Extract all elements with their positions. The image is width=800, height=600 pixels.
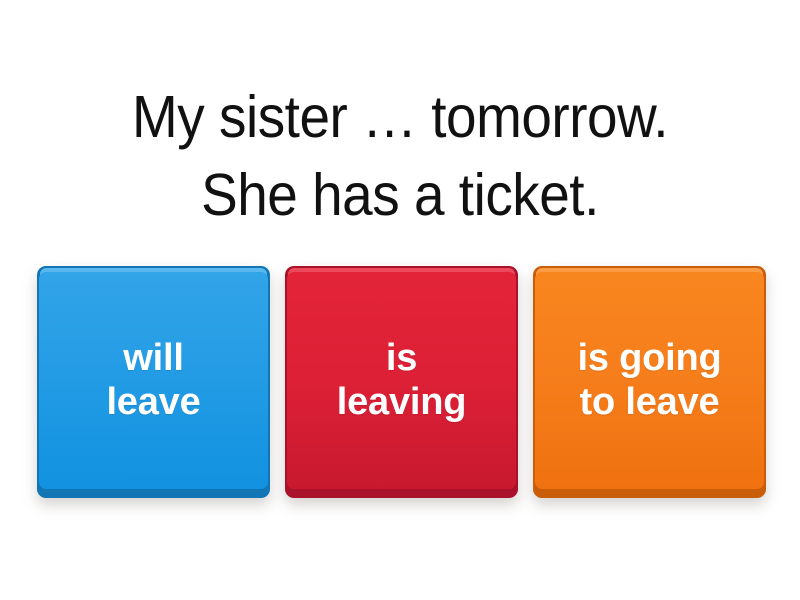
- answer-label-is-leaving: is leaving: [337, 336, 467, 425]
- question-prompt: My sister … tomorrow. She has a ticket.: [0, 78, 800, 235]
- answer-label-will-leave: will leave: [106, 336, 200, 425]
- answer-tile-will-leave[interactable]: will leave: [37, 266, 270, 498]
- quiz-activity-root: My sister … tomorrow. She has a ticket. …: [0, 0, 800, 600]
- question-text: My sister … tomorrow. She has a ticket.: [41, 78, 759, 235]
- answer-tile-is-leaving[interactable]: is leaving: [285, 266, 518, 498]
- answer-tile-is-going-to-leave[interactable]: is going to leave: [533, 266, 766, 498]
- answer-options-row: will leave is leaving is going to leave: [37, 266, 766, 506]
- answer-label-is-going-to-leave: is going to leave: [577, 336, 721, 425]
